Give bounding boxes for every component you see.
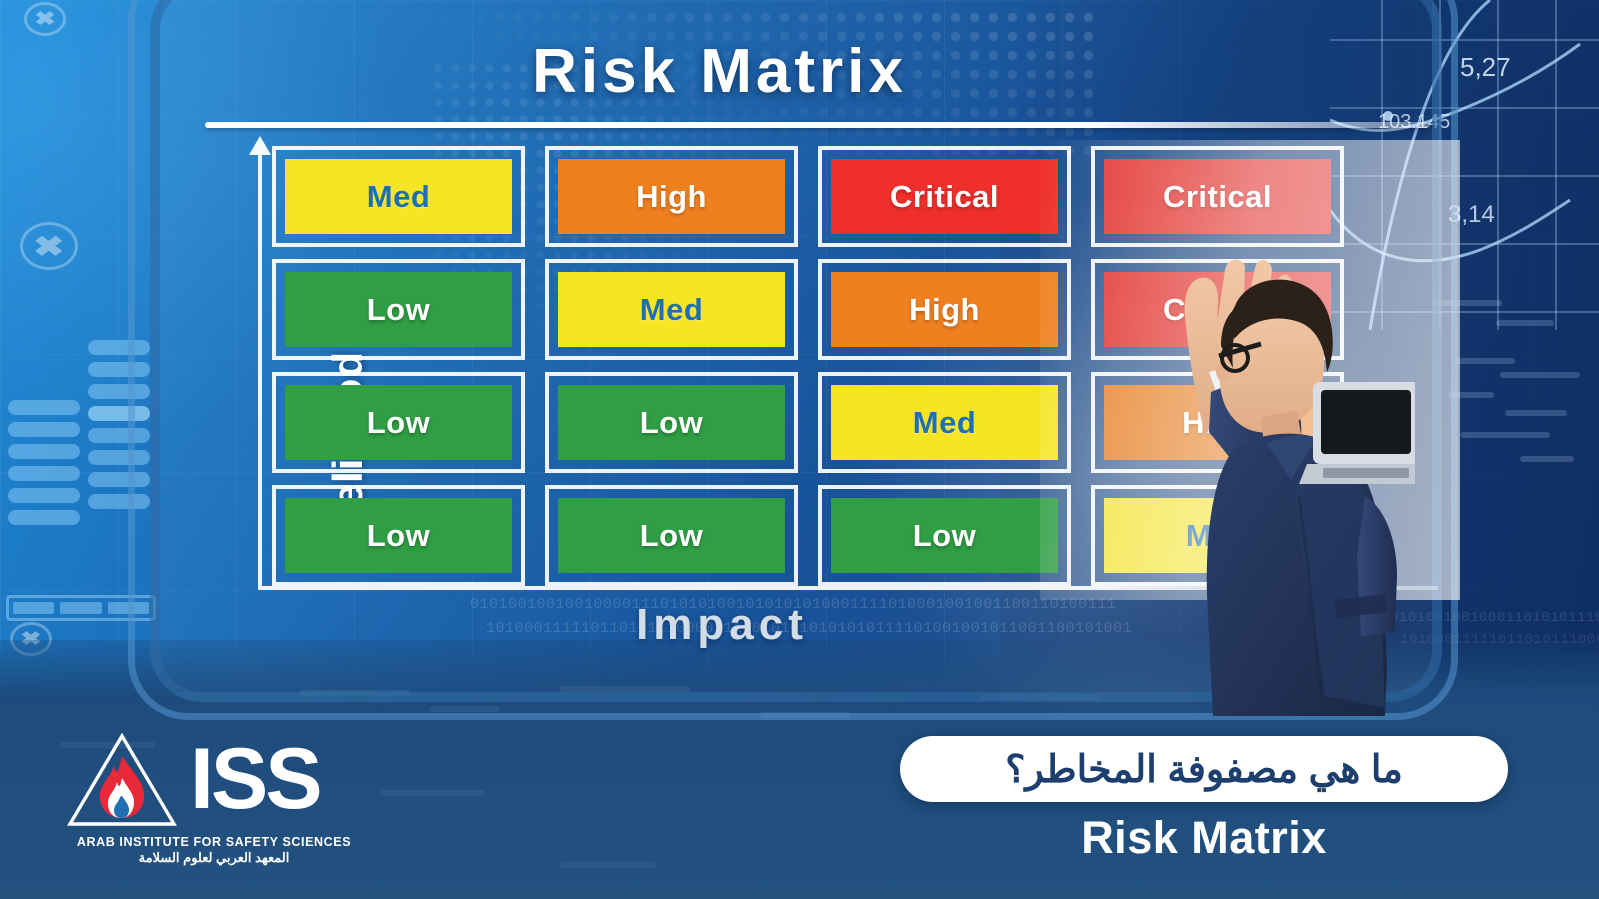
matrix-cell[interactable]: Low [272, 372, 525, 473]
matrix-cell-label: High [558, 159, 785, 234]
equalizer-bars-left [8, 400, 80, 525]
businessman-illustration [1085, 196, 1415, 716]
decor-dash [380, 790, 485, 796]
matrix-cell-label: Low [831, 498, 1058, 573]
question-banner-text: ما هي مصفوفة المخاطر؟ [1005, 747, 1403, 792]
matrix-cell[interactable]: High [818, 259, 1071, 360]
decor-dash [1520, 456, 1574, 462]
logo-tagline-en: ARAB INSTITUTE FOR SAFETY SCIENCES [64, 835, 364, 849]
page-title: Risk Matrix [0, 36, 1599, 107]
flame-triangle-icon [64, 730, 180, 830]
matrix-cell[interactable]: Low [272, 259, 525, 360]
matrix-cell[interactable]: Med [272, 146, 525, 247]
likelihood-axis: Likelihood [258, 152, 262, 588]
infographic-canvas: 5,27 103.145 3,14 ✖ ✖ ✖ [0, 0, 1599, 899]
matrix-cell-label: Med [558, 272, 785, 347]
caption-english: Risk Matrix [900, 812, 1508, 864]
matrix-cell[interactable]: High [545, 146, 798, 247]
laptop-icon [1299, 382, 1415, 484]
x-circle-icon-top: ✖ [24, 2, 66, 36]
decor-dash [1496, 320, 1554, 326]
matrix-cell[interactable]: Med [818, 372, 1071, 473]
iss-logo: ISS ARAB INSTITUTE FOR SAFETY SCIENCES ا… [64, 730, 364, 865]
logo-mark-row: ISS [64, 730, 364, 830]
decor-dash [1455, 358, 1515, 364]
matrix-cell-label: Low [558, 498, 785, 573]
logo-wordmark: ISS [190, 743, 320, 817]
matrix-cell-label: High [831, 272, 1058, 347]
matrix-cell[interactable]: Low [818, 485, 1071, 586]
logo-tagline-ar: المعهد العربي لعلوم السلامة [64, 850, 364, 866]
x-circle-icon-middle: ✖ [20, 222, 78, 270]
matrix-cell-label: Med [831, 385, 1058, 460]
matrix-cell[interactable]: Low [545, 485, 798, 586]
decor-dash [1500, 372, 1580, 378]
matrix-cell-label: Low [285, 272, 512, 347]
decor-dash [560, 862, 656, 868]
matrix-cell-label: Low [285, 385, 512, 460]
matrix-cell[interactable]: Critical [818, 146, 1071, 247]
title-underline [205, 122, 1430, 128]
question-banner: ما هي مصفوفة المخاطر؟ [900, 736, 1508, 802]
matrix-cell[interactable]: Med [545, 259, 798, 360]
decor-dash [1505, 410, 1567, 416]
matrix-cell[interactable]: Low [545, 372, 798, 473]
matrix-cell-label: Low [285, 498, 512, 573]
matrix-cell[interactable]: Low [272, 485, 525, 586]
matrix-cell-label: Med [285, 159, 512, 234]
decor-dash [1460, 432, 1550, 438]
matrix-cell-label: Critical [831, 159, 1058, 234]
matrix-cell-label: Low [558, 385, 785, 460]
